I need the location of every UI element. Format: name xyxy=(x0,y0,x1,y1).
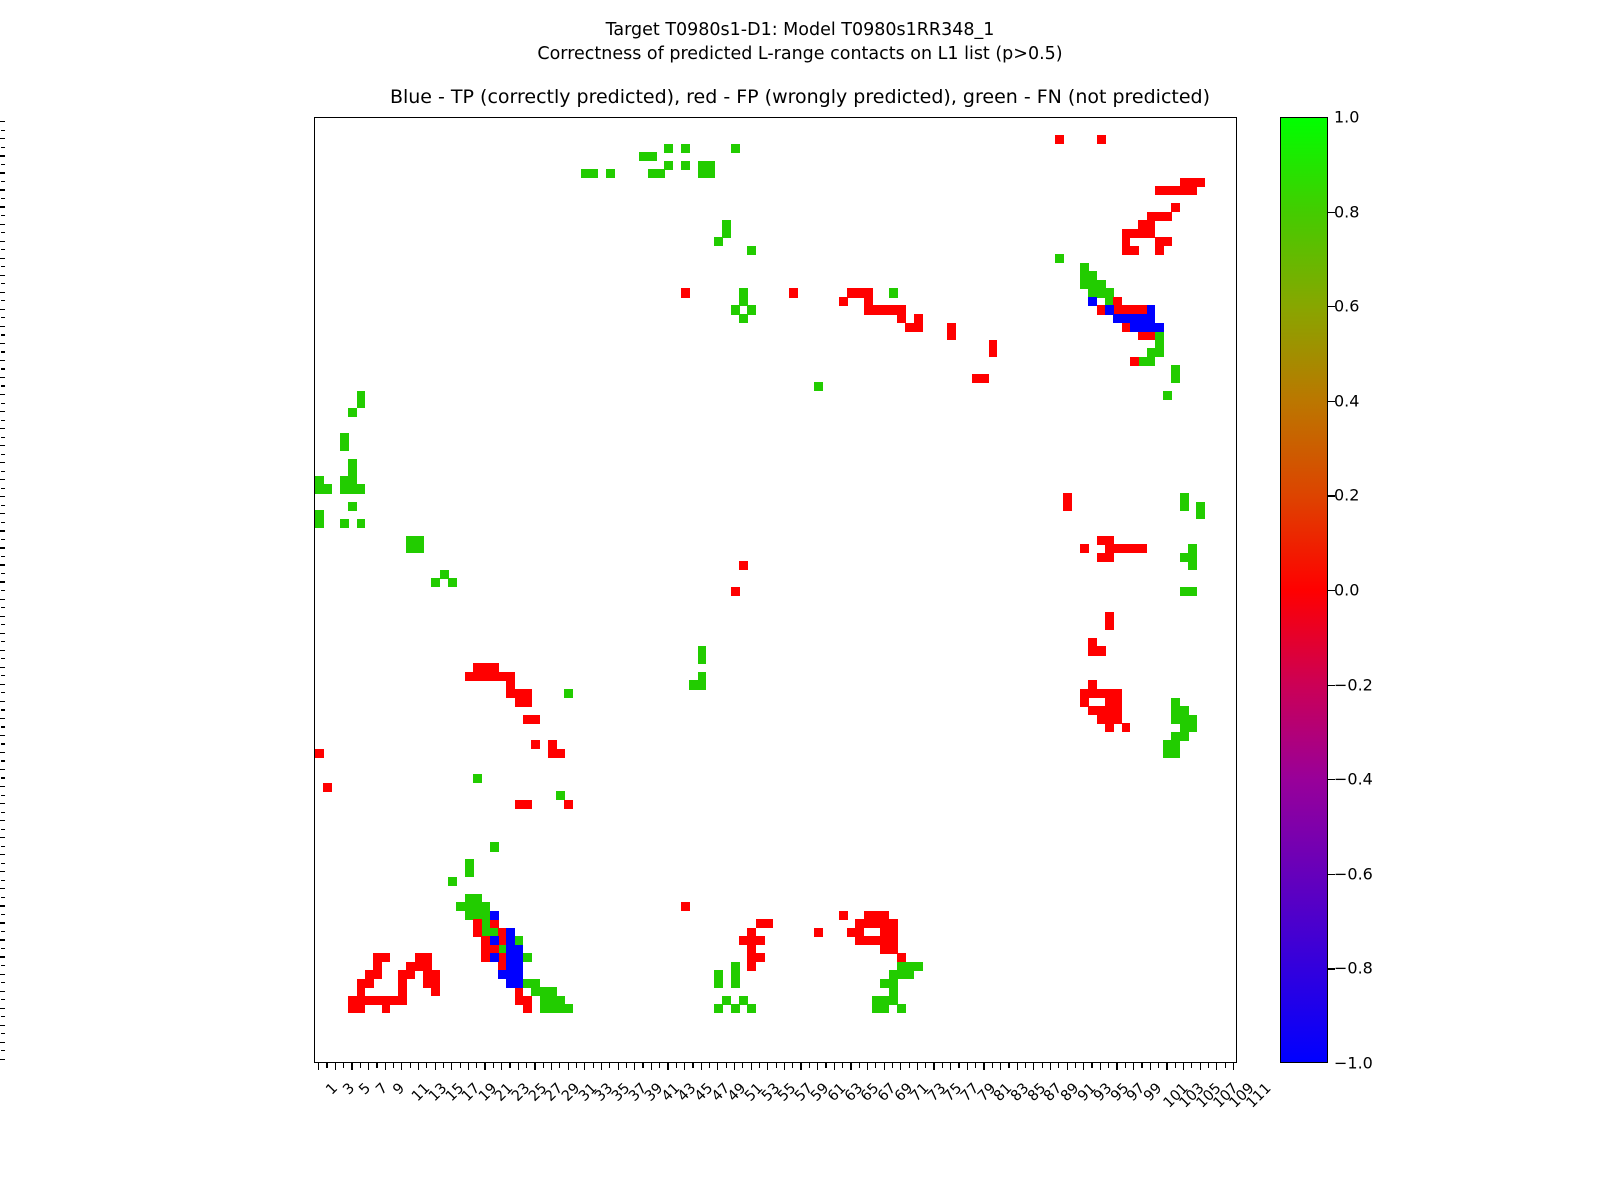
x-tick-mark xyxy=(1116,1063,1117,1070)
y-tick-mark xyxy=(1,488,6,489)
colorbar-tick-label: −0.2 xyxy=(1334,675,1373,694)
contact-cell-fp xyxy=(1155,246,1164,255)
y-tick-mark xyxy=(1,777,6,778)
contact-cell-fp xyxy=(1105,553,1114,562)
contact-cell-fn xyxy=(606,169,615,178)
contact-cell-fn xyxy=(747,305,756,314)
contact-cell-fn xyxy=(731,962,740,971)
y-tick-mark xyxy=(0,309,5,310)
contact-cell-fn xyxy=(1055,254,1064,263)
y-tick-mark xyxy=(1,999,6,1000)
x-tick-mark xyxy=(684,1063,685,1070)
contact-cell-fn xyxy=(1155,348,1164,357)
y-tick-mark xyxy=(0,224,5,225)
y-tick-mark xyxy=(0,974,5,975)
x-tick-mark xyxy=(576,1063,577,1068)
contact-cell-fp xyxy=(756,936,765,945)
contact-cell-fn xyxy=(714,979,723,988)
y-tick-mark xyxy=(1,1016,6,1017)
contact-cell-fp xyxy=(980,374,989,383)
contact-cell-fn xyxy=(357,519,366,528)
y-tick-mark xyxy=(1,709,6,710)
contact-cell-fp xyxy=(681,288,690,297)
colorbar-tick-label: 1.0 xyxy=(1334,108,1359,127)
y-tick-mark xyxy=(1,147,6,148)
colorbar-tick-label: 0.2 xyxy=(1334,486,1359,505)
x-tick-mark xyxy=(1050,1063,1051,1070)
x-tick-mark xyxy=(784,1063,785,1070)
x-tick-mark xyxy=(958,1063,959,1068)
contact-cell-fp xyxy=(897,953,906,962)
x-tick-mark xyxy=(1183,1063,1184,1070)
x-tick-mark xyxy=(825,1063,826,1068)
x-tick-mark xyxy=(900,1063,901,1070)
contact-cell-fn xyxy=(1188,587,1197,596)
contact-cell-fp xyxy=(1130,357,1139,366)
x-tick-mark xyxy=(318,1063,319,1070)
x-tick-mark xyxy=(376,1063,377,1068)
y-tick-mark xyxy=(1,471,6,472)
x-tick-mark xyxy=(1075,1063,1076,1068)
contact-cell-fp xyxy=(764,919,773,928)
y-tick-mark xyxy=(1,420,6,421)
contact-cell-fn xyxy=(323,484,332,493)
y-tick-mark xyxy=(0,939,5,940)
x-tick-mark xyxy=(451,1063,452,1070)
x-tick-mark xyxy=(809,1063,810,1068)
contact-cell-fp xyxy=(531,715,540,724)
y-tick-mark xyxy=(1,982,6,983)
y-tick-mark xyxy=(0,445,5,446)
x-tick-mark xyxy=(734,1063,735,1070)
contact-cell-fn xyxy=(340,519,349,528)
y-tick-mark xyxy=(0,786,5,787)
y-tick-mark xyxy=(1,368,6,369)
x-tick-mark xyxy=(917,1063,918,1070)
contact-cell-fn xyxy=(1180,502,1189,511)
y-tick-mark xyxy=(0,1008,5,1009)
x-tick-mark xyxy=(1200,1063,1201,1070)
x-tick-mark xyxy=(509,1063,510,1068)
contact-cell-fp xyxy=(1105,723,1114,732)
y-tick-mark xyxy=(1,1050,6,1051)
contact-cell-fn xyxy=(1180,732,1189,741)
x-tick-mark xyxy=(701,1063,702,1070)
x-tick-mark xyxy=(742,1063,743,1068)
x-tick-mark xyxy=(335,1063,336,1070)
y-tick-mark xyxy=(1,590,6,591)
y-axis: 1357911131517192123252729313335373941434… xyxy=(0,117,314,1063)
x-tick-label: 9 xyxy=(390,1080,408,1098)
y-tick-mark xyxy=(1,232,6,233)
y-tick-mark xyxy=(1,846,6,847)
y-tick-mark xyxy=(0,292,5,293)
x-tick-mark xyxy=(1125,1063,1126,1068)
colorbar-tick-label: 0.6 xyxy=(1334,297,1359,316)
y-tick-mark xyxy=(0,820,5,821)
x-tick-mark xyxy=(1208,1063,1209,1068)
contact-cell-fn xyxy=(564,689,573,698)
y-tick-mark xyxy=(0,411,5,412)
contact-cell-fp xyxy=(947,331,956,340)
x-tick-mark xyxy=(1100,1063,1101,1070)
contact-cell-fn xyxy=(1188,561,1197,570)
contact-cell-fn xyxy=(656,169,665,178)
x-tick-label: 7 xyxy=(373,1080,391,1098)
contact-cell-tp xyxy=(515,979,524,988)
y-tick-mark xyxy=(1,198,6,199)
y-tick-mark xyxy=(0,650,5,651)
colorbar-tick-label: 0.0 xyxy=(1334,581,1359,600)
x-tick-mark xyxy=(975,1063,976,1068)
x-tick-mark xyxy=(1033,1063,1034,1070)
y-tick-mark xyxy=(0,1042,5,1043)
y-tick-mark xyxy=(0,428,5,429)
contact-cell-fp xyxy=(357,1004,366,1013)
contact-cell-fn xyxy=(1196,510,1205,519)
contact-cell-fp xyxy=(1130,246,1139,255)
x-tick-mark xyxy=(859,1063,860,1068)
x-tick-mark xyxy=(634,1063,635,1070)
y-tick-mark xyxy=(1,385,6,386)
contact-cell-fn xyxy=(698,680,707,689)
y-tick-mark xyxy=(1,334,6,335)
y-tick-mark xyxy=(0,530,5,531)
title-line-1: Target T0980s1-D1: Model T0980s1RR348_1 xyxy=(0,18,1600,42)
contact-cell-tp xyxy=(1155,323,1164,332)
y-tick-mark xyxy=(0,581,5,582)
colorbar-tick-label: −0.4 xyxy=(1334,770,1373,789)
x-axis: 1357911131517192123252729313335373941434… xyxy=(314,1063,1237,1193)
contact-cell-fp xyxy=(315,749,324,758)
contact-cell-fn xyxy=(465,868,474,877)
contact-cell-fn xyxy=(739,314,748,323)
y-tick-mark xyxy=(1,249,6,250)
y-tick-mark xyxy=(1,1033,6,1034)
y-tick-mark xyxy=(1,863,6,864)
contact-cell-fp xyxy=(1163,237,1172,246)
contact-cell-fn xyxy=(315,519,324,528)
y-tick-mark xyxy=(1,437,6,438)
contact-cell-fn xyxy=(564,1004,573,1013)
contact-cell-fp xyxy=(839,297,848,306)
contact-cell-fn xyxy=(889,288,898,297)
x-tick-mark xyxy=(1175,1063,1176,1068)
y-tick-mark xyxy=(1,760,6,761)
y-tick-mark xyxy=(1,641,6,642)
x-tick-mark xyxy=(692,1063,693,1068)
y-tick-mark xyxy=(0,769,5,770)
x-tick-mark xyxy=(593,1063,594,1068)
y-tick-mark xyxy=(0,189,5,190)
x-tick-mark xyxy=(667,1063,668,1070)
x-tick-mark xyxy=(401,1063,402,1070)
y-tick-mark xyxy=(0,496,5,497)
contact-cell-fp xyxy=(382,1004,391,1013)
x-tick-mark xyxy=(426,1063,427,1068)
y-tick-mark xyxy=(1,317,6,318)
y-tick-mark xyxy=(1,351,6,352)
contact-cell-fn xyxy=(681,144,690,153)
y-tick-mark xyxy=(0,735,5,736)
contact-cell-fp xyxy=(382,953,391,962)
contact-cell-fn xyxy=(1147,357,1156,366)
x-tick-mark xyxy=(1108,1063,1109,1068)
contact-cell-fn xyxy=(897,1004,906,1013)
contact-cell-fp xyxy=(1196,178,1205,187)
contact-cell-fn xyxy=(747,246,756,255)
x-tick-mark xyxy=(351,1063,352,1070)
y-tick-mark xyxy=(0,871,5,872)
contact-cell-fp xyxy=(323,783,332,792)
contact-cell-fn xyxy=(1171,749,1180,758)
x-tick-mark xyxy=(867,1063,868,1070)
contact-cell-fp xyxy=(914,323,923,332)
x-tick-mark xyxy=(767,1063,768,1070)
contact-map-plot-area xyxy=(314,117,1237,1063)
x-tick-mark xyxy=(800,1063,801,1070)
contact-cell-fp xyxy=(523,1004,532,1013)
x-tick-mark xyxy=(1150,1063,1151,1070)
x-tick-mark xyxy=(983,1063,984,1070)
contact-cell-fn xyxy=(664,161,673,170)
contact-cell-fn xyxy=(722,229,731,238)
x-tick-mark xyxy=(343,1063,344,1068)
x-tick-mark xyxy=(584,1063,585,1070)
contact-cell-fp xyxy=(747,962,756,971)
x-tick-mark xyxy=(609,1063,610,1068)
x-tick-mark xyxy=(651,1063,652,1070)
y-tick-mark xyxy=(1,266,6,267)
y-tick-mark xyxy=(0,837,5,838)
x-tick-mark xyxy=(817,1063,818,1070)
x-tick-mark xyxy=(410,1063,411,1068)
y-tick-mark xyxy=(0,547,5,548)
x-tick-mark xyxy=(642,1063,643,1068)
contact-cell-fn xyxy=(431,578,440,587)
y-tick-mark xyxy=(0,479,5,480)
contact-cell-fn xyxy=(523,953,532,962)
contact-cell-fn xyxy=(1163,391,1172,400)
x-tick-mark xyxy=(368,1063,369,1070)
x-tick-mark xyxy=(1141,1063,1142,1068)
contact-cell-fn xyxy=(714,237,723,246)
x-tick-mark xyxy=(1216,1063,1217,1070)
contact-cell-fn xyxy=(706,169,715,178)
x-tick-mark xyxy=(1067,1063,1068,1070)
y-tick-mark xyxy=(0,172,5,173)
contact-cell-tp xyxy=(506,962,515,971)
contact-cell-fn xyxy=(348,408,357,417)
x-tick-mark xyxy=(526,1063,527,1068)
contact-cell-fp xyxy=(1055,135,1064,144)
x-tick-mark xyxy=(1091,1063,1092,1068)
x-tick-mark xyxy=(1025,1063,1026,1068)
contact-cell-fp xyxy=(1097,135,1106,144)
contact-cell-fp xyxy=(1080,544,1089,553)
y-tick-mark xyxy=(0,377,5,378)
y-tick-mark xyxy=(0,121,5,122)
y-tick-mark xyxy=(1,692,6,693)
x-tick-mark xyxy=(1000,1063,1001,1070)
y-tick-mark xyxy=(0,1025,5,1026)
x-tick-mark xyxy=(676,1063,677,1068)
contact-cell-fp xyxy=(1138,544,1147,553)
contact-cell-fp xyxy=(1063,502,1072,511)
y-tick-mark xyxy=(1,675,6,676)
x-tick-mark xyxy=(1191,1063,1192,1068)
x-tick-mark xyxy=(626,1063,627,1068)
x-tick-mark xyxy=(601,1063,602,1070)
contact-cell-fp xyxy=(1163,212,1172,221)
x-tick-mark xyxy=(875,1063,876,1068)
y-tick-mark xyxy=(1,897,6,898)
y-tick-mark xyxy=(0,752,5,753)
x-tick-mark xyxy=(1158,1063,1159,1068)
y-tick-mark xyxy=(1,215,6,216)
figure-subtitle: Blue - TP (correctly predicted), red - F… xyxy=(0,86,1600,108)
contact-cell-fp xyxy=(523,698,532,707)
y-tick-mark xyxy=(0,803,5,804)
contact-cell-tp xyxy=(490,911,499,920)
colorbar-tick-label: 0.8 xyxy=(1334,202,1359,221)
contact-cell-fn xyxy=(1188,723,1197,732)
x-tick-mark xyxy=(933,1063,934,1070)
y-tick-mark xyxy=(1,624,6,625)
x-tick-mark xyxy=(618,1063,619,1070)
y-tick-mark xyxy=(0,564,5,565)
y-tick-mark xyxy=(0,888,5,889)
x-tick-mark xyxy=(1042,1063,1043,1068)
y-tick-mark xyxy=(1,300,6,301)
contact-cell-fn xyxy=(357,484,366,493)
contact-cell-fp xyxy=(1147,331,1156,340)
y-tick-mark xyxy=(0,667,5,668)
contact-cell-fn xyxy=(814,382,823,391)
colorbar-tick-label: −1.0 xyxy=(1334,1054,1373,1073)
y-tick-mark xyxy=(1,948,6,949)
contact-cell-fn xyxy=(340,442,349,451)
x-tick-mark xyxy=(1133,1063,1134,1070)
x-tick-mark xyxy=(534,1063,535,1070)
contact-cell-fn xyxy=(473,774,482,783)
y-tick-mark xyxy=(1,181,6,182)
x-tick-mark xyxy=(360,1063,361,1068)
contact-cell-fn xyxy=(589,169,598,178)
contact-cell-fn xyxy=(448,877,457,886)
x-tick-label: 3 xyxy=(340,1080,358,1098)
y-tick-mark xyxy=(0,684,5,685)
contact-cell-fn xyxy=(731,979,740,988)
y-tick-mark xyxy=(0,922,5,923)
contact-map-figure: Target T0980s1-D1: Model T0980s1RR348_1 … xyxy=(0,0,1600,1200)
contact-cell-fn xyxy=(747,1004,756,1013)
x-tick-mark xyxy=(942,1063,943,1068)
y-tick-mark xyxy=(1,454,6,455)
contact-cell-fn xyxy=(648,152,657,161)
contact-cell-fn xyxy=(681,161,690,170)
x-tick-mark xyxy=(717,1063,718,1070)
x-tick-mark xyxy=(435,1063,436,1070)
x-tick-mark xyxy=(1017,1063,1018,1070)
x-tick-mark xyxy=(884,1063,885,1070)
y-tick-mark xyxy=(0,513,5,514)
contact-cell-fp xyxy=(681,902,690,911)
y-tick-mark xyxy=(0,138,5,139)
y-tick-mark xyxy=(0,991,5,992)
y-tick-mark xyxy=(0,1059,5,1060)
contact-cell-fp xyxy=(839,911,848,920)
x-tick-mark xyxy=(1008,1063,1009,1068)
x-tick-mark xyxy=(776,1063,777,1068)
y-tick-mark xyxy=(0,956,5,957)
legend-description: Blue - TP (correctly predicted), red - F… xyxy=(0,86,1600,108)
contact-cell-fp xyxy=(814,928,823,937)
y-tick-mark xyxy=(0,718,5,719)
x-tick-mark xyxy=(850,1063,851,1070)
x-tick-label: 5 xyxy=(357,1080,375,1098)
y-tick-mark xyxy=(1,658,6,659)
x-tick-mark xyxy=(484,1063,485,1070)
y-tick-mark xyxy=(1,880,6,881)
y-tick-mark xyxy=(0,206,5,207)
y-tick-mark xyxy=(0,616,5,617)
contact-cell-fp xyxy=(523,800,532,809)
contact-cell-fp xyxy=(1122,723,1131,732)
x-tick-mark xyxy=(909,1063,910,1068)
x-tick-mark xyxy=(460,1063,461,1068)
x-tick-mark xyxy=(1083,1063,1084,1070)
contact-cell-fp xyxy=(373,970,382,979)
colorbar-tick-label: 0.4 xyxy=(1334,391,1359,410)
y-tick-mark xyxy=(1,829,6,830)
x-tick-mark xyxy=(493,1063,494,1068)
x-tick-mark xyxy=(501,1063,502,1070)
x-tick-mark xyxy=(709,1063,710,1068)
contact-cell-fn xyxy=(490,842,499,851)
x-tick-mark xyxy=(551,1063,552,1070)
contact-cell-fp xyxy=(731,587,740,596)
contact-cell-fp xyxy=(789,288,798,297)
contact-cell-fn xyxy=(905,970,914,979)
y-tick-mark xyxy=(0,326,5,327)
y-tick-mark xyxy=(1,283,6,284)
y-tick-mark xyxy=(1,539,6,540)
y-tick-mark xyxy=(1,743,6,744)
contact-cell-fp xyxy=(531,740,540,749)
x-tick-mark xyxy=(751,1063,752,1070)
y-tick-mark xyxy=(1,522,6,523)
y-tick-mark xyxy=(0,360,5,361)
contact-cell-fn xyxy=(731,1004,740,1013)
contact-cell-fp xyxy=(1105,621,1114,630)
y-tick-mark xyxy=(0,599,5,600)
contact-cell-tp xyxy=(490,936,499,945)
x-tick-mark xyxy=(659,1063,660,1068)
x-tick-mark xyxy=(543,1063,544,1068)
contact-cell-fn xyxy=(357,399,366,408)
x-tick-mark xyxy=(385,1063,386,1070)
x-tick-mark xyxy=(443,1063,444,1068)
figure-title: Target T0980s1-D1: Model T0980s1RR348_1 … xyxy=(0,18,1600,66)
contact-cell-fn xyxy=(415,544,424,553)
contact-cell-fp xyxy=(1097,646,1106,655)
contact-cell-fn xyxy=(448,578,457,587)
contact-cell-fp xyxy=(1171,203,1180,212)
y-tick-mark xyxy=(0,241,5,242)
x-tick-mark xyxy=(1225,1063,1226,1068)
y-tick-mark xyxy=(0,462,5,463)
